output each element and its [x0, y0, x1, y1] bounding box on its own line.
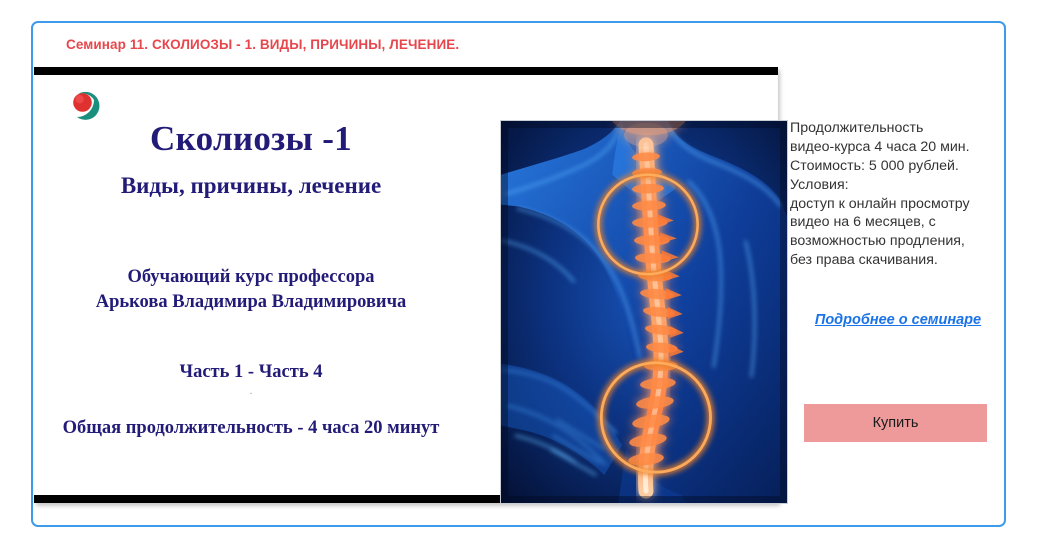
slide-body: Сколиозы -1 Виды, причины, лечение Обуча… — [34, 75, 778, 495]
details-link-wrapper: Подробнее о семинаре — [790, 311, 1006, 329]
slide-duration: Общая продолжительность - 4 часа 20 мину… — [34, 418, 468, 439]
spine-xray-anatomy-image — [500, 120, 788, 504]
slide-text-column: Сколиозы -1 Виды, причины, лечение Обуча… — [34, 75, 468, 495]
slide-heading: Сколиозы -1 — [34, 119, 468, 159]
slide-top-bar — [34, 67, 778, 75]
page-title: Семинар 11. СКОЛИОЗЫ - 1. ВИДЫ, ПРИЧИНЫ,… — [66, 37, 459, 52]
seminar-details-link[interactable]: Подробнее о семинаре — [815, 312, 981, 328]
slide-author: Обучающий курс профессора Арькова Владим… — [34, 265, 468, 314]
course-card: Семинар 11. СКОЛИОЗЫ - 1. ВИДЫ, ПРИЧИНЫ,… — [31, 21, 1006, 527]
course-slide: Сколиозы -1 Виды, причины, лечение Обуча… — [34, 67, 778, 503]
course-info-panel: Продолжительность видео-курса 4 часа 20 … — [790, 119, 1006, 270]
slide-separator-dot: . — [34, 385, 468, 397]
buy-button[interactable]: Купить — [804, 404, 987, 442]
slide-parts: Часть 1 - Часть 4 — [34, 362, 468, 383]
slide-subheading: Виды, причины, лечение — [34, 173, 468, 199]
course-description: Продолжительность видео-курса 4 часа 20 … — [790, 119, 1006, 270]
